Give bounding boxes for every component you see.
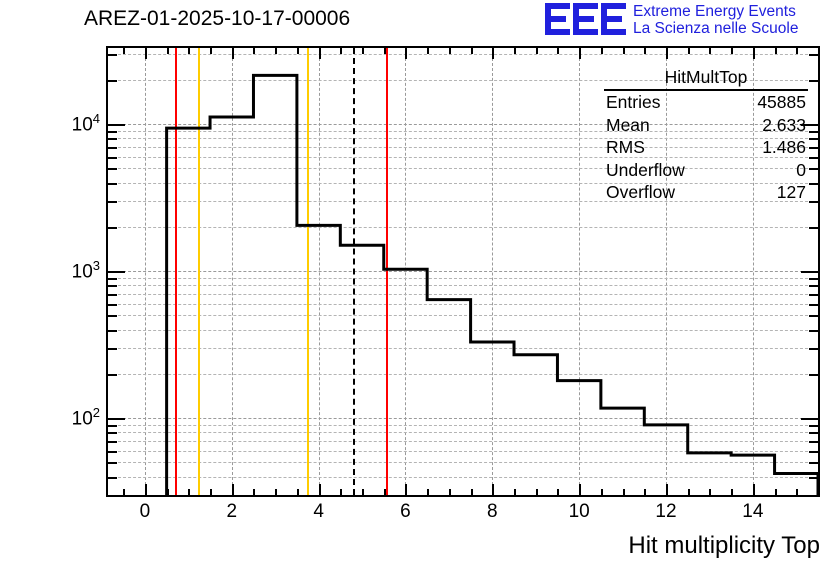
stats-row: RMS1.486 — [604, 136, 808, 159]
stats-row-value: 1.486 — [762, 136, 806, 159]
stats-row-value: 127 — [777, 181, 806, 204]
stats-row-label: Underflow — [606, 159, 685, 182]
stats-row-spacer — [650, 114, 762, 137]
x-tick-label: 4 — [289, 501, 349, 523]
stats-row-spacer — [660, 91, 757, 114]
stats-row: Mean2.633 — [604, 114, 808, 137]
x-tick-label: 14 — [723, 501, 783, 523]
x-tick-label: 6 — [375, 501, 435, 523]
x-axis-title: Hit multiplicity Top — [628, 532, 820, 560]
stats-rows: Entries45885Mean2.633RMS1.486Underflow0O… — [604, 91, 808, 204]
stats-row: Underflow0 — [604, 159, 808, 182]
root-canvas: AREZ-01-2025-10-17-00006 Extreme Energy … — [0, 0, 836, 572]
stats-row-spacer — [685, 159, 796, 182]
stats-row-label: RMS — [606, 136, 645, 159]
stats-row: Overflow127 — [604, 181, 808, 204]
x-tick-label: 12 — [636, 501, 696, 523]
x-tick-label: 0 — [115, 501, 175, 523]
stats-row-value: 0 — [796, 159, 806, 182]
x-tick-label: 2 — [202, 501, 262, 523]
stats-row-label: Entries — [606, 91, 660, 114]
stats-row-value: 2.633 — [762, 114, 806, 137]
stats-title: HitMultTop — [604, 67, 808, 91]
stats-row-spacer — [675, 181, 777, 204]
stats-row-label: Overflow — [606, 181, 675, 204]
stats-row-spacer — [645, 136, 762, 159]
stats-row-label: Mean — [606, 114, 650, 137]
x-tick-label: 8 — [462, 501, 522, 523]
stats-box: HitMultTop Entries45885Mean2.633RMS1.486… — [604, 67, 808, 204]
stats-row-value: 45885 — [757, 91, 806, 114]
x-tick-label: 10 — [549, 501, 609, 523]
stats-row: Entries45885 — [604, 91, 808, 114]
